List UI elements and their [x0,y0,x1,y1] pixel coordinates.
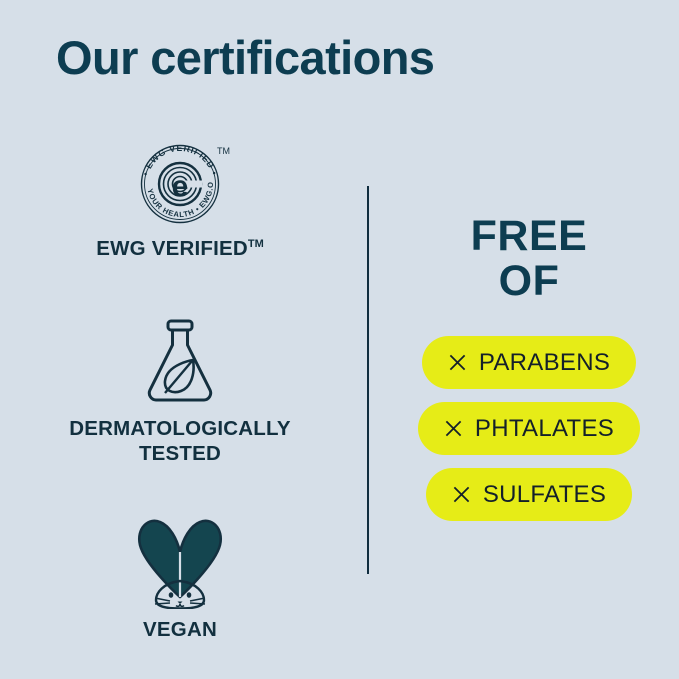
svg-text:e: e [172,170,189,203]
certification-label-vegan: VEGAN [20,617,340,643]
free-of-pill-label: PARABENS [479,349,610,377]
certification-label-dermatologically-tested: DERMATOLOGICALLY TESTED [20,416,340,467]
free-of-pill-list: PARABENS PHTALATES SULFATES [400,336,658,521]
certification-item-vegan: VEGAN [20,511,340,643]
free-of-pill-label: PHTALATES [475,415,614,443]
free-of-section: FREE OF PARABENS PHTALATES SULFATE [400,214,658,521]
certification-label-ewg-text: EWG VERIFIED [96,237,248,260]
certification-item-dermatologically-tested: DERMATOLOGICALLY TESTED [20,310,340,467]
certifications-infographic: Our certifications • EWG VERIFIED • [0,0,679,679]
free-of-pill-label: SULFATES [483,481,606,509]
vertical-divider [367,186,369,574]
x-mark-icon [448,353,467,372]
x-mark-icon [452,485,471,504]
flask-with-leaf-icon [20,310,340,406]
trademark-superscript: TM [248,238,264,250]
certification-item-ewg: • EWG VERIFIED • FOR YOUR HEALTH • EWG.O… [20,130,340,262]
ewg-verified-seal-icon: • EWG VERIFIED • FOR YOUR HEALTH • EWG.O… [20,130,340,226]
x-mark-icon [444,419,463,438]
free-of-heading: FREE OF [400,214,658,304]
certification-label-line1: DERMATOLOGICALLY [20,416,340,442]
bunny-heart-ears-icon [20,511,340,607]
free-of-pill-phtalates: PHTALATES [418,402,640,455]
certification-label-ewg: EWG VERIFIEDTM [20,236,340,262]
trademark-mark: TM [217,146,230,156]
free-of-heading-line1: FREE [400,214,658,259]
free-of-pill-parabens: PARABENS [422,336,636,389]
certification-list: • EWG VERIFIED • FOR YOUR HEALTH • EWG.O… [20,130,340,643]
free-of-heading-line2: OF [400,259,658,304]
certification-label-line2: TESTED [20,441,340,467]
page-title: Our certifications [56,32,434,84]
free-of-pill-sulfates: SULFATES [426,468,632,521]
